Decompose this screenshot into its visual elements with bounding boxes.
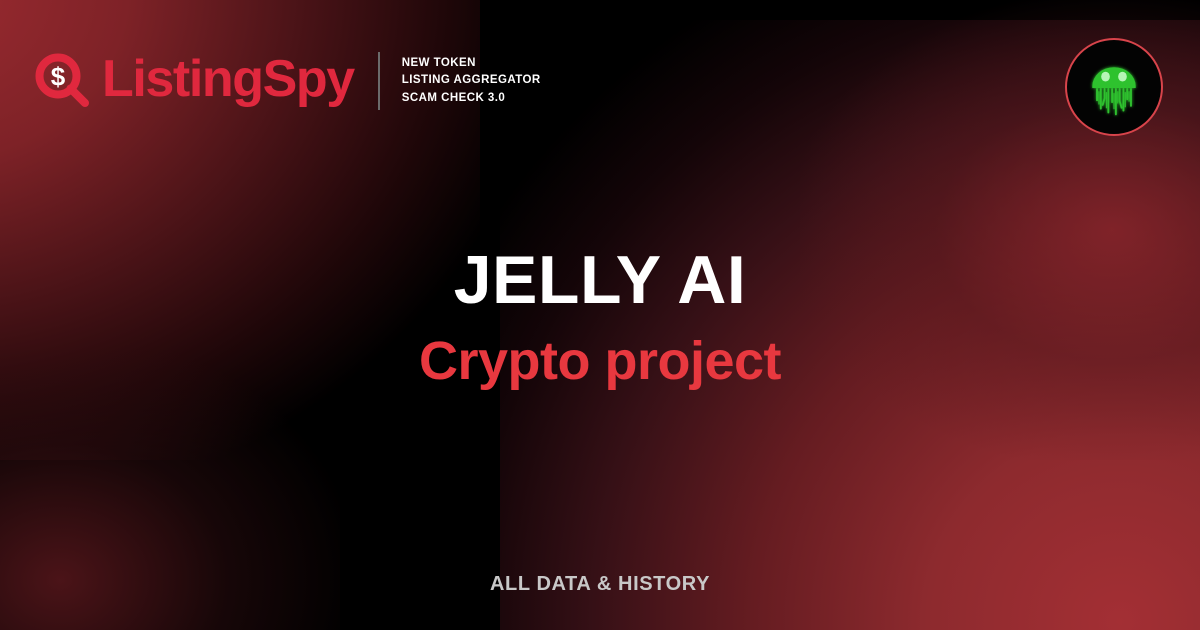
header-divider <box>378 52 380 110</box>
avatar <box>1065 38 1163 136</box>
promo-card: $ ListingSpy NEW TOKEN LISTING AGGREGATO… <box>0 0 1200 630</box>
token-name: JELLY AI <box>0 246 1200 315</box>
jellyfish-icon <box>1081 54 1147 120</box>
svg-text:$: $ <box>51 62 66 92</box>
magnifier-dollar-icon: $ <box>34 52 92 110</box>
brand-wordmark: ListingSpy <box>102 53 354 105</box>
tagline-line-3: SCAM CHECK 3.0 <box>402 90 541 107</box>
brand-tagline: NEW TOKEN LISTING AGGREGATOR SCAM CHECK … <box>402 55 541 107</box>
token-kind: Crypto project <box>0 333 1200 390</box>
footer-caption: ALL DATA & HISTORY <box>0 573 1200 596</box>
tagline-line-2: LISTING AGGREGATOR <box>402 72 541 89</box>
headline-block: JELLY AI Crypto project <box>0 246 1200 390</box>
tagline-line-1: NEW TOKEN <box>402 55 541 72</box>
brand-header: $ ListingSpy NEW TOKEN LISTING AGGREGATO… <box>34 52 541 110</box>
